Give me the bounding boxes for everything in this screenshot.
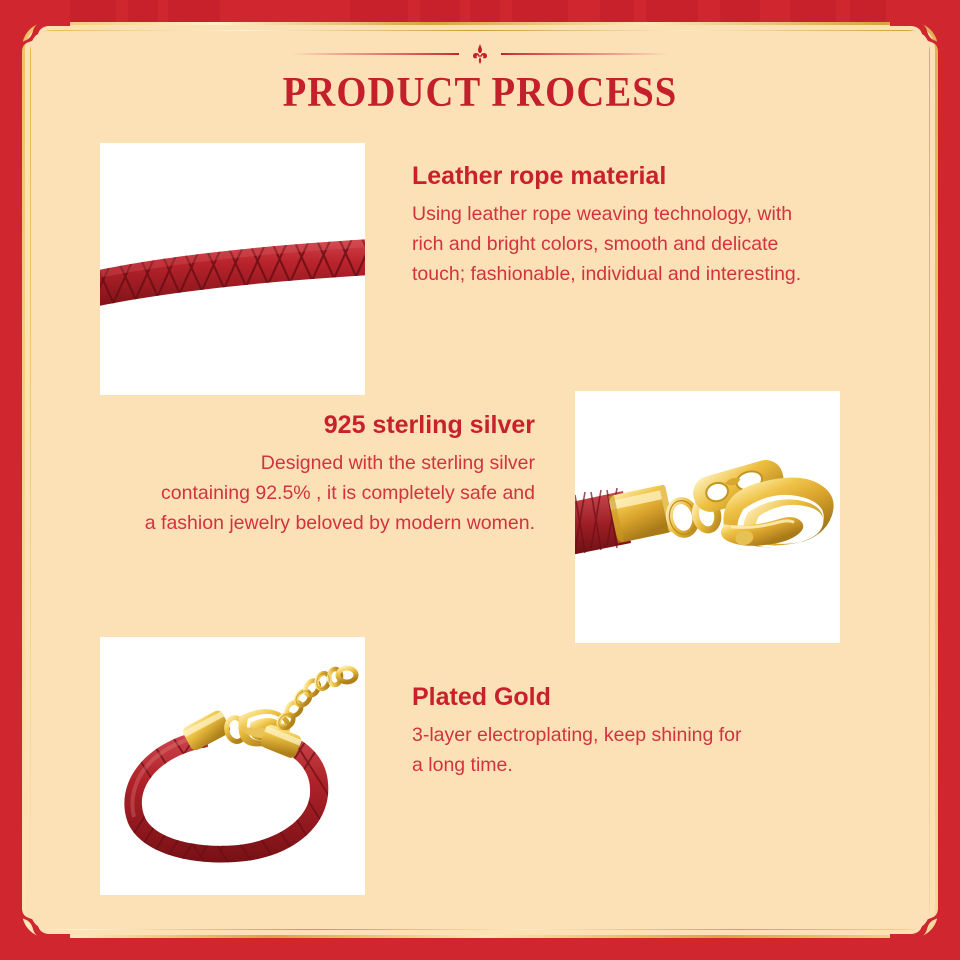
- section-heading: Plated Gold: [412, 683, 882, 712]
- section-body-line: a long time.: [412, 750, 882, 780]
- panel-content: PRODUCT PROCESS: [31, 31, 929, 929]
- photo-full-bracelet: [100, 637, 365, 895]
- section-body-line: 3-layer electroplating, keep shining for: [412, 720, 882, 750]
- text-block-plated-gold: Plated Gold 3-layer electroplating, keep…: [412, 683, 882, 780]
- infographic-page: PRODUCT PROCESS: [0, 0, 960, 960]
- section-plated-gold: Plated Gold 3-layer electroplating, keep…: [31, 31, 929, 929]
